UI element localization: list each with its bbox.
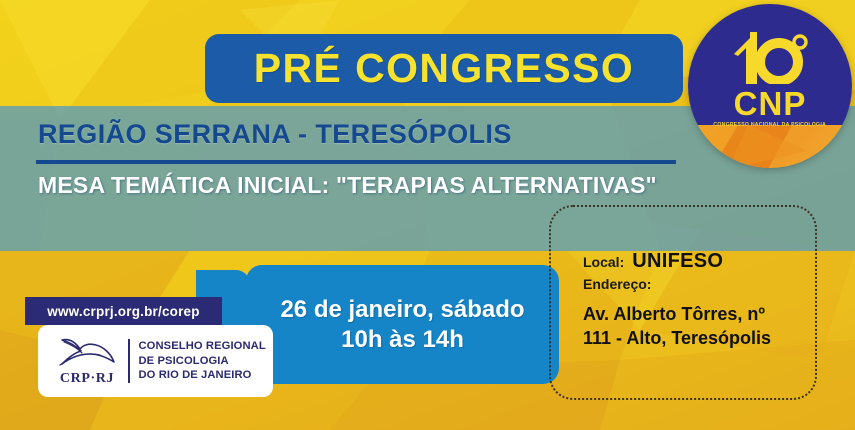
address-line-1: Av. Alberto Tôrres, nº	[583, 302, 818, 326]
region-subtitle: REGIÃO SERRANA - TERESÓPOLIS	[38, 119, 512, 150]
location-info: Local: UNIFESO Endereço: Av. Alberto Tôr…	[583, 250, 818, 351]
event-poster: PRÉ CONGRESSO REGIÃO SERRANA - TERESÓPOL…	[0, 0, 855, 430]
cnp-logo: CNP CONGRESSO NACIONAL DA PSICOLOGIA	[688, 4, 852, 168]
crp-bird-icon: CRP·RJ	[50, 336, 124, 387]
title-banner: PRÉ CONGRESSO	[205, 34, 683, 103]
date-time-box: 26 de janeiro, sábado 10h às 14h	[246, 265, 559, 384]
crp-name-line-2: DE PSICOLOGIA	[139, 354, 266, 369]
cnp-subtitle: CONGRESSO NACIONAL DA PSICOLOGIA	[714, 122, 827, 128]
event-time: 10h às 14h	[341, 325, 464, 355]
crp-full-name: CONSELHO REGIONAL DE PSICOLOGIA DO RIO D…	[139, 339, 266, 383]
crp-name-line-1: CONSELHO REGIONAL	[139, 339, 266, 354]
cnp-ten-house-icon	[724, 32, 816, 84]
crp-name-line-3: DO RIO DE JANEIRO	[139, 368, 266, 383]
theme-subtitle: MESA TEMÁTICA INICIAL: "TERAPIAS ALTERNA…	[38, 172, 657, 199]
address-line-2: 111 - Alto, Teresópolis	[583, 326, 818, 350]
cnp-logo-content: CNP CONGRESSO NACIONAL DA PSICOLOGIA	[688, 4, 852, 168]
venue-name: UNIFESO	[632, 250, 723, 273]
crp-rj-logo-card: CRP·RJ CONSELHO REGIONAL DE PSICOLOGIA D…	[38, 325, 273, 397]
crp-divider	[128, 339, 130, 383]
event-date: 26 de janeiro, sábado	[280, 295, 524, 325]
crp-acronym: CRP·RJ	[60, 371, 114, 387]
local-label: Local:	[583, 254, 624, 270]
heading-divider-rule	[36, 160, 676, 164]
cnp-acronym: CNP	[734, 87, 807, 120]
website-url-bar[interactable]: www.crprj.org.br/corep	[25, 297, 222, 325]
website-url: www.crprj.org.br/corep	[47, 304, 199, 319]
address-label: Endereço:	[583, 276, 818, 292]
page-title: PRÉ CONGRESSO	[254, 48, 634, 89]
venue-row: Local: UNIFESO	[583, 250, 818, 273]
